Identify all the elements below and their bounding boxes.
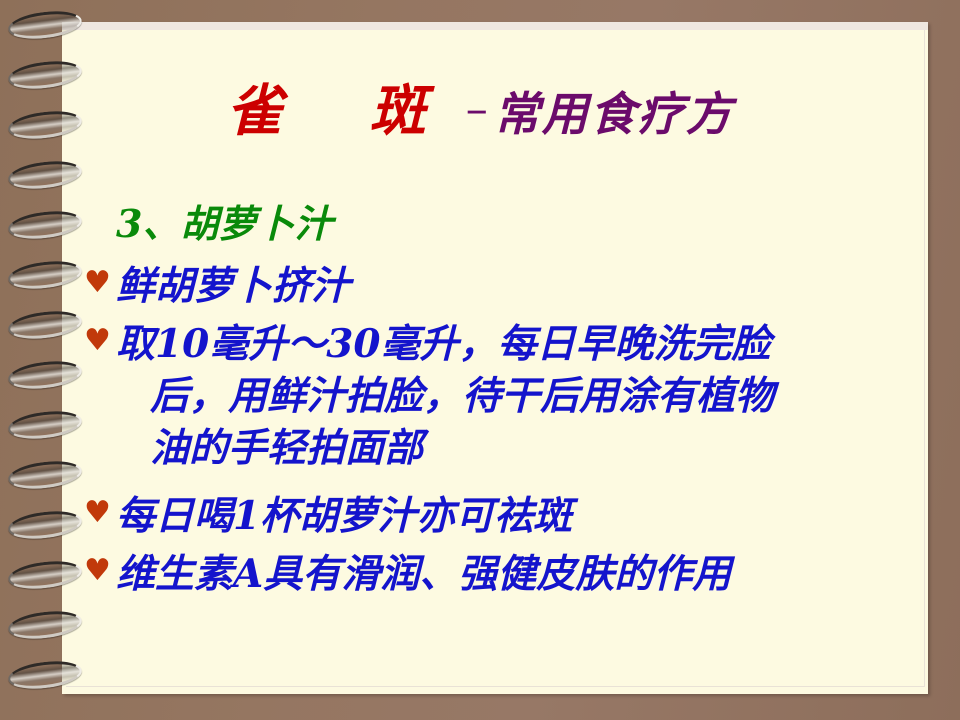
list-item: ♥ 维生素A具有滑润、强健皮肤的作用 [84, 548, 914, 600]
title-dash: – [460, 84, 494, 135]
heart-bullet-icon: ♥ [84, 548, 116, 594]
list-item-text: 取10毫升～30毫升，每日早晚洗完脸后，用鲜汁拍脸，待干后用涂有植物油的手轻拍面… [116, 318, 774, 474]
spiral-coil [7, 258, 84, 293]
spiral-coil [7, 308, 84, 343]
heart-bullet-icon: ♥ [84, 318, 116, 364]
title-main-text: 雀 斑 [226, 78, 460, 144]
spiral-coil [7, 8, 84, 43]
spiral-coil [7, 558, 84, 593]
heart-bullet-icon: ♥ [84, 490, 116, 536]
section-heading: ♥ 3、胡萝卜汁 [84, 198, 914, 250]
spiral-coil [7, 508, 84, 543]
spiral-coil [7, 658, 84, 693]
content-body: ♥ 3、胡萝卜汁 ♥ 鲜胡萝卜挤汁 ♥ 取10毫升～30毫升，每日早晚洗完脸后，… [84, 198, 914, 606]
list-item-text: 维生素A具有滑润、强健皮肤的作用 [116, 548, 731, 600]
spiral-coil [7, 208, 84, 243]
list-item-text: 鲜胡萝卜挤汁 [116, 260, 350, 312]
paragraph-line-1: 取10毫升～30毫升，每日早晚洗完脸 [116, 321, 771, 367]
section-heading-text: 3、胡萝卜汁 [116, 198, 332, 250]
slide-canvas: 雀 斑–常用食疗方 ♥ 3、胡萝卜汁 ♥ 鲜胡萝卜挤汁 ♥ 取10毫升～30毫升… [0, 0, 960, 720]
paragraph-line-2: 后，用鲜汁拍脸，待干后用涂有植物 [116, 370, 774, 422]
paragraph-line-3: 油的手轻拍面部 [116, 422, 774, 474]
list-item: ♥ 每日喝1杯胡萝汁亦可祛斑 [84, 490, 914, 542]
list-item-text: 每日喝1杯胡萝汁亦可祛斑 [116, 490, 572, 542]
spiral-coil [7, 408, 84, 443]
list-item: ♥ 取10毫升～30毫升，每日早晚洗完脸后，用鲜汁拍脸，待干后用涂有植物油的手轻… [84, 318, 914, 474]
page-top-edge [62, 22, 928, 30]
page-title: 雀 斑–常用食疗方 [0, 66, 960, 147]
spiral-coil [7, 608, 84, 643]
spiral-coil [7, 458, 84, 493]
title-subtitle-text: 常用食疗方 [494, 87, 734, 141]
list-item: ♥ 鲜胡萝卜挤汁 [84, 260, 914, 312]
spacer [84, 480, 914, 490]
spiral-coil [7, 358, 84, 393]
heart-bullet-icon: ♥ [84, 260, 116, 306]
heading-bullet-spacer: ♥ [84, 198, 116, 244]
spiral-coil [7, 158, 84, 193]
